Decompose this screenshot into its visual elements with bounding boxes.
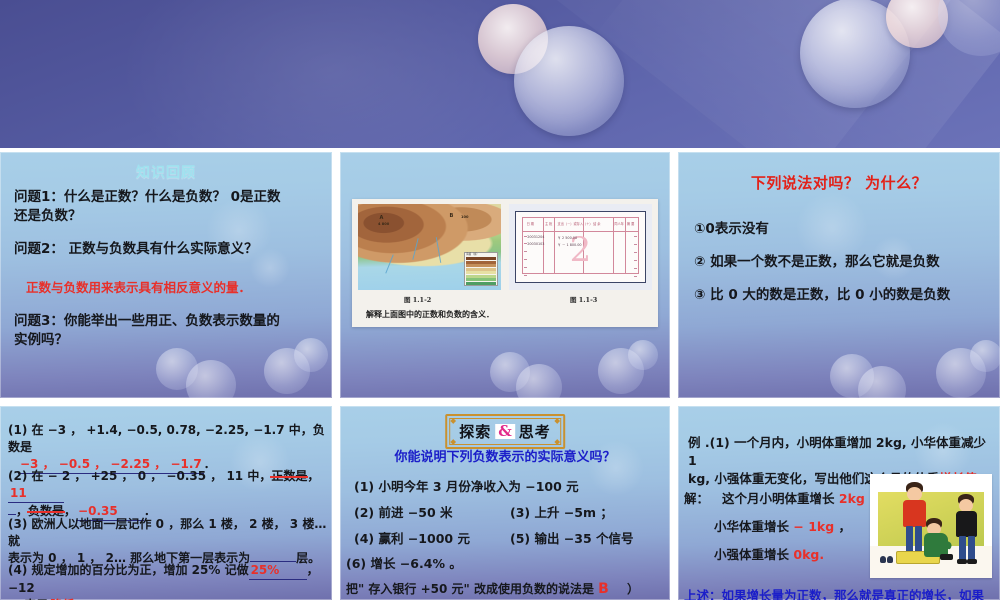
illustration-weighing-kids (870, 474, 992, 578)
solution-line-1: 这个月小明体重增长 2kg ， (722, 490, 882, 508)
review-question-3-line1: 问题3：你能举出一些用正、负数表示数量的 (14, 313, 280, 329)
passbook-tick-l1 (524, 236, 527, 237)
explore-item-1: (1) 小明今年 3 月份净收入为 −100 元 (354, 476, 579, 495)
explore-bottom-tail: ） (627, 582, 639, 596)
kid-red-head (907, 487, 922, 501)
passbook-tick-l6 (524, 275, 527, 276)
solution-line-3-text: 小强体重增长 (714, 547, 789, 562)
passbook-row-1-amount: ￥ － 1 800.00 (558, 242, 582, 247)
solution-label: 解： (684, 490, 709, 508)
passbook-row-0-date: 20031204 (527, 235, 544, 239)
blank-item-2-answer-1: 11 (8, 485, 64, 503)
figure-bank-passbook: 日 期 主 柜 支出（－）或存入（＋） 结 余 同人年 摘 要 2 200312… (509, 204, 652, 290)
passbook-tick-l5 (524, 267, 527, 268)
passbook-header-4: 同人年 (614, 221, 624, 226)
truefalse-item-1: ①0表示没有 (694, 220, 769, 239)
panel-example: 例 .(1) 一个月内，小明体重增加 2kg, 小华体重减少 1 kg, 小强体… (678, 406, 1000, 600)
sphere-frost-left (514, 26, 624, 136)
passbook-tick-r4 (634, 260, 637, 261)
explore-item-3: (3) 上升 −5m ； (510, 502, 613, 521)
map-elevation-legend: 海拔（米） (464, 252, 498, 286)
panel-textbook-figures: A 4 800 B 100 海拔（米） (340, 152, 670, 398)
explore-question: 你能说明下列负数表示的实际意义吗？ (340, 446, 670, 465)
review-answer-highlight: 正数与负数用来表示具有相反意义的量． (26, 279, 326, 297)
explore-item-4: (4) 赢利 −1000 元 (354, 528, 470, 547)
passbook-header-3: 结 余 (593, 221, 600, 226)
example-statement-line1: 例 .(1) 一个月内，小明体重增加 2kg, 小华体重减少 1 (688, 435, 986, 468)
review-question-1-line2: 还是负数？ (14, 208, 82, 224)
blank-item-2-label-1: 正数是 (271, 469, 307, 483)
blank-item-1-text: (1) 在 −3 ， +1.4, −0.5, 0.78, −2.25, −1.7… (8, 423, 325, 454)
solution-line-2-text: 小华体重增长 (714, 519, 789, 534)
passbook-row-0-amount: ￥ 2 500.00 (558, 235, 578, 240)
blank-item-4: (4) 规定增加的百分比为正，增加 25% 记做25%， −12 % 表示降低 … (8, 562, 332, 600)
passbook-row-1-date: 20030103 (527, 242, 544, 246)
passbook-tick-r6 (634, 276, 637, 277)
kid-black-torso (956, 511, 977, 537)
kid-green-shoe (940, 554, 953, 560)
slide-canvas: 知识回顾 问题1：什么是正数？什么是负数？ 0是正数 还是负数？ 问题2： 正数… (0, 0, 1000, 600)
kid-black-sweater (954, 494, 982, 568)
map-river-1 (413, 239, 419, 261)
blank-item-2: (2) 在 − 2 ， +25 ， 0 ， −0.35 ， 11 中，正数是，1… (8, 468, 332, 521)
panel-knowledge-review: 知识回顾 问题1：什么是正数？什么是负数？ 0是正数 还是负数？ 问题2： 正数… (0, 152, 332, 398)
figure-left-caption: 图 1.1-2 (404, 294, 431, 304)
kid-black-leg-right (968, 536, 975, 561)
passbook-header-2: 支出（－）或存入（＋） (558, 221, 593, 226)
passbook-tick-r5 (634, 268, 637, 269)
explore-item-5: (5) 输出 −35 个信号 (510, 528, 634, 547)
blank-item-2-text: (2) 在 − 2 ， +25 ， 0 ， −0.35 ， 11 中， (8, 469, 271, 483)
map-peak-b-label: B (450, 213, 454, 219)
kid-black-shoe-left (957, 559, 967, 564)
review-question-1-line1: 问题1：什么是正数？什么是负数？ 0是正数 (14, 189, 281, 205)
passbook-grid: 日 期 主 柜 支出（－）或存入（＋） 结 余 同人年 摘 要 2 200312… (522, 217, 639, 273)
passbook-tick-r2 (634, 244, 637, 245)
review-question-3: 问题3：你能举出一些用正、负数表示数量的 实例吗？ (14, 312, 326, 350)
passbook-header-5: 摘 要 (627, 221, 634, 226)
review-question-2: 问题2： 正数与负数具有什么实际意义？ (14, 240, 326, 259)
panel-title-knowledge-review: 知识回顾 (0, 162, 332, 182)
review-question-3-line2: 实例吗？ (14, 332, 68, 348)
solution-line-1-value: 2kg (839, 491, 865, 506)
panel-true-false: 下列说法对吗？ 为什么？ ①0表示没有 ② 如果一个数不是正数，那么它就是负数 … (678, 152, 1000, 398)
textbook-scan: A 4 800 B 100 海拔（米） (352, 199, 658, 327)
badge-text-left: 探索 (459, 421, 491, 442)
solution-line-3: 小强体重增长 0kg. (714, 546, 824, 564)
blank-item-1: (1) 在 −3 ， +1.4, −0.5, 0.78, −2.25, −1.7… (8, 422, 328, 474)
panel-fill-blanks: (1) 在 −3 ， +1.4, −0.5, 0.78, −2.25, −1.7… (0, 406, 332, 600)
solution-line-2-value: − 1kg (793, 519, 834, 534)
legend-band-8 (466, 282, 496, 285)
figure-instruction: 解释上面图中的正数和负数的含义． (366, 309, 494, 320)
blank-item-4-text: (4) 规定增加的百分比为正，增加 25% 记做 (8, 563, 249, 577)
map-river-2 (436, 237, 441, 263)
panel-title-true-false: 下列说法对吗？ 为什么？ (678, 172, 1000, 193)
kid-black-leg-left (959, 536, 966, 561)
spare-shoe-left (880, 556, 886, 563)
badge-explore-think: 探索 & 思考 (445, 414, 565, 449)
passbook-tick-r3 (634, 252, 637, 253)
map-river-3 (386, 254, 394, 273)
blank-item-2-rule (8, 514, 16, 515)
badge-text-right: 思考 (519, 421, 551, 442)
slide-banner (0, 0, 1000, 148)
explore-bottom-answer: B (598, 581, 609, 597)
solution-line-2-tail: ， (839, 519, 852, 534)
spare-shoe-right (887, 556, 893, 563)
passbook-header-1: 主 柜 (545, 221, 552, 226)
kid-red-torso (903, 500, 926, 527)
passbook-tick-l4 (524, 259, 527, 260)
kid-red-leg-right (915, 526, 922, 554)
blank-item-4-answer-1: 25% (249, 562, 307, 580)
blank-item-3: (3) 欧洲人以地面一层记作 0 ，那么 1 楼， 2 楼， 3 楼…就 表示为… (8, 516, 332, 567)
solution-line-3-value: 0kg. (793, 547, 824, 562)
passbook-tick-r1 (634, 236, 637, 237)
map-peak-a-value: 4 800 (378, 222, 389, 226)
badge-ampersand: & (495, 424, 515, 440)
solution-line-1-text: 这个月小明体重增长 (722, 491, 835, 506)
solution-line-2: 小华体重增长 − 1kg ， (714, 518, 851, 536)
map-peak-b-value: 100 (461, 215, 469, 219)
truefalse-item-2: ② 如果一个数不是正数，那么它就是负数 (694, 253, 940, 272)
kid-black-shoe-right (967, 559, 977, 564)
review-question-1: 问题1：什么是正数？什么是负数？ 0是正数 还是负数？ (14, 188, 322, 226)
explore-bottom-text: 把" 存入银行 +50 元" 改成使用负数的说法是 (346, 582, 594, 596)
blank-item-3-text: (3) 欧洲人以地面一层记作 0 ，那么 1 楼， 2 楼， 3 楼…就 (8, 517, 326, 548)
truefalse-item-3: ③ 比 0 大的数是正数，比 0 小的数是负数 (694, 286, 950, 305)
explore-bottom-row: 把" 存入银行 +50 元" 改成使用负数的说法是 B ） (346, 580, 639, 597)
example-cutoff-line: 上述：如果增长量为正数，那么就是真正的增长，如果 (684, 585, 984, 600)
explore-item-6: (6) 增长 −6.4% 。 (346, 553, 462, 572)
spare-shoes-pair (880, 556, 894, 563)
explore-item-2: (2) 前进 −50 米 (354, 502, 453, 521)
kid-green-crouching (924, 518, 958, 564)
banner-glow (120, 0, 540, 148)
badge-inner: 探索 & 思考 (449, 418, 561, 445)
passbook-sheet: 日 期 主 柜 支出（－）或存入（＋） 结 余 同人年 摘 要 2 200312… (515, 211, 647, 283)
passbook-tick-l3 (524, 251, 527, 252)
figure-right-caption: 图 1.1-3 (570, 294, 597, 304)
passbook-tick-l2 (524, 243, 527, 244)
passbook-header-0: 日 期 (527, 221, 534, 226)
map-peak-a-label: A (379, 215, 383, 221)
figure-topographic-map: A 4 800 B 100 海拔（米） (358, 204, 501, 290)
panel-explore-think: 探索 & 思考 你能说明下列负数表示的实际意义吗？ (1) 小明今年 3 月份净… (340, 406, 670, 600)
kid-red-leg-left (906, 526, 913, 554)
